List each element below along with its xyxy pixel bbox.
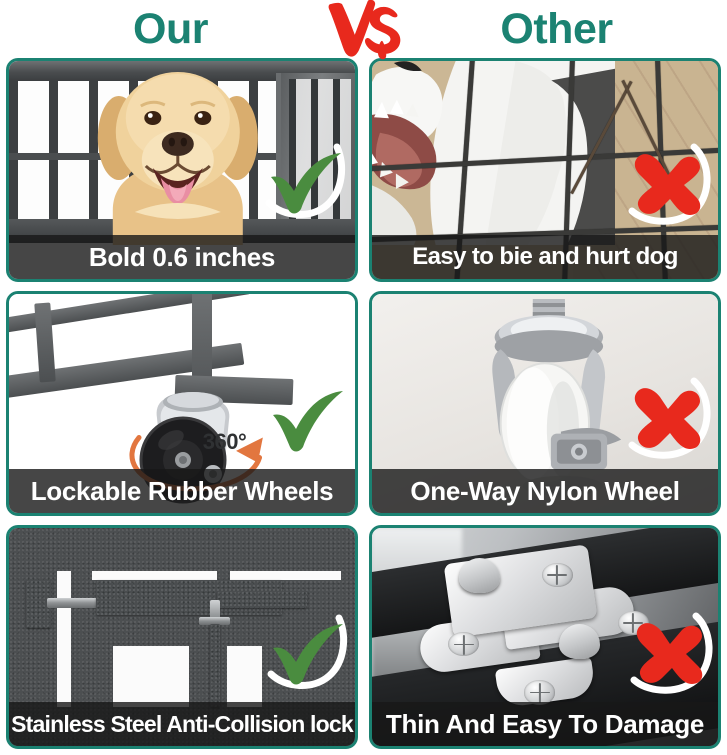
panel-nylon-wheel: One-Way Nylon Wheel bbox=[369, 291, 721, 515]
golden-retriever-photo bbox=[73, 61, 283, 245]
panel-caption: One-Way Nylon Wheel bbox=[372, 469, 718, 513]
red-x-badge bbox=[620, 606, 716, 698]
crate-gap bbox=[92, 571, 217, 580]
vertical-crate-bar bbox=[210, 624, 220, 707]
latch-screw bbox=[542, 563, 573, 587]
green-check-badge bbox=[253, 131, 349, 223]
panel-caption: Thin And Easy To Damage bbox=[372, 702, 718, 746]
latch-stud bbox=[459, 558, 501, 593]
comparison-grid: Bold 0.6 inches bbox=[0, 58, 727, 755]
comparison-row-2: 360° Lockable Rubber Wheels bbox=[6, 291, 721, 515]
comparison-row-3: Stainless Steel Anti-Collision lock bbox=[6, 525, 721, 749]
vs-badge bbox=[321, 0, 407, 58]
panel-thin-bars: Easy to bie and hurt dog bbox=[369, 58, 721, 282]
panel-thin-latch: Thin And Easy To Damage bbox=[369, 525, 721, 749]
latch-screw bbox=[524, 680, 555, 704]
crate-gap bbox=[57, 571, 71, 706]
header-title-our: Our bbox=[21, 8, 321, 51]
rotation-annotation: 360° bbox=[203, 429, 247, 455]
green-check-badge bbox=[255, 369, 351, 461]
comparison-row-1: Bold 0.6 inches bbox=[6, 58, 721, 282]
red-x-badge bbox=[618, 137, 714, 229]
red-x-badge bbox=[618, 371, 714, 463]
panel-bold-bars: Bold 0.6 inches bbox=[6, 58, 358, 282]
panel-caption: Lockable Rubber Wheels bbox=[9, 469, 355, 513]
panel-caption: Bold 0.6 inches bbox=[9, 235, 355, 279]
panel-caption: Easy to bie and hurt dog bbox=[372, 235, 718, 279]
panel-steel-lock: Stainless Steel Anti-Collision lock bbox=[6, 525, 358, 749]
panel-rubber-wheels: 360° Lockable Rubber Wheels bbox=[6, 291, 358, 515]
bolt-rod bbox=[47, 598, 102, 609]
white-dog-photo bbox=[372, 61, 615, 245]
comparison-header: Our Other bbox=[0, 0, 727, 58]
panel-caption: Stainless Steel Anti-Collision lock bbox=[9, 702, 355, 746]
crate-gap bbox=[230, 571, 341, 580]
vs-icon bbox=[325, 0, 403, 60]
green-check-badge bbox=[255, 602, 351, 694]
crate-gap bbox=[113, 646, 189, 707]
header-title-other: Other bbox=[407, 8, 707, 51]
